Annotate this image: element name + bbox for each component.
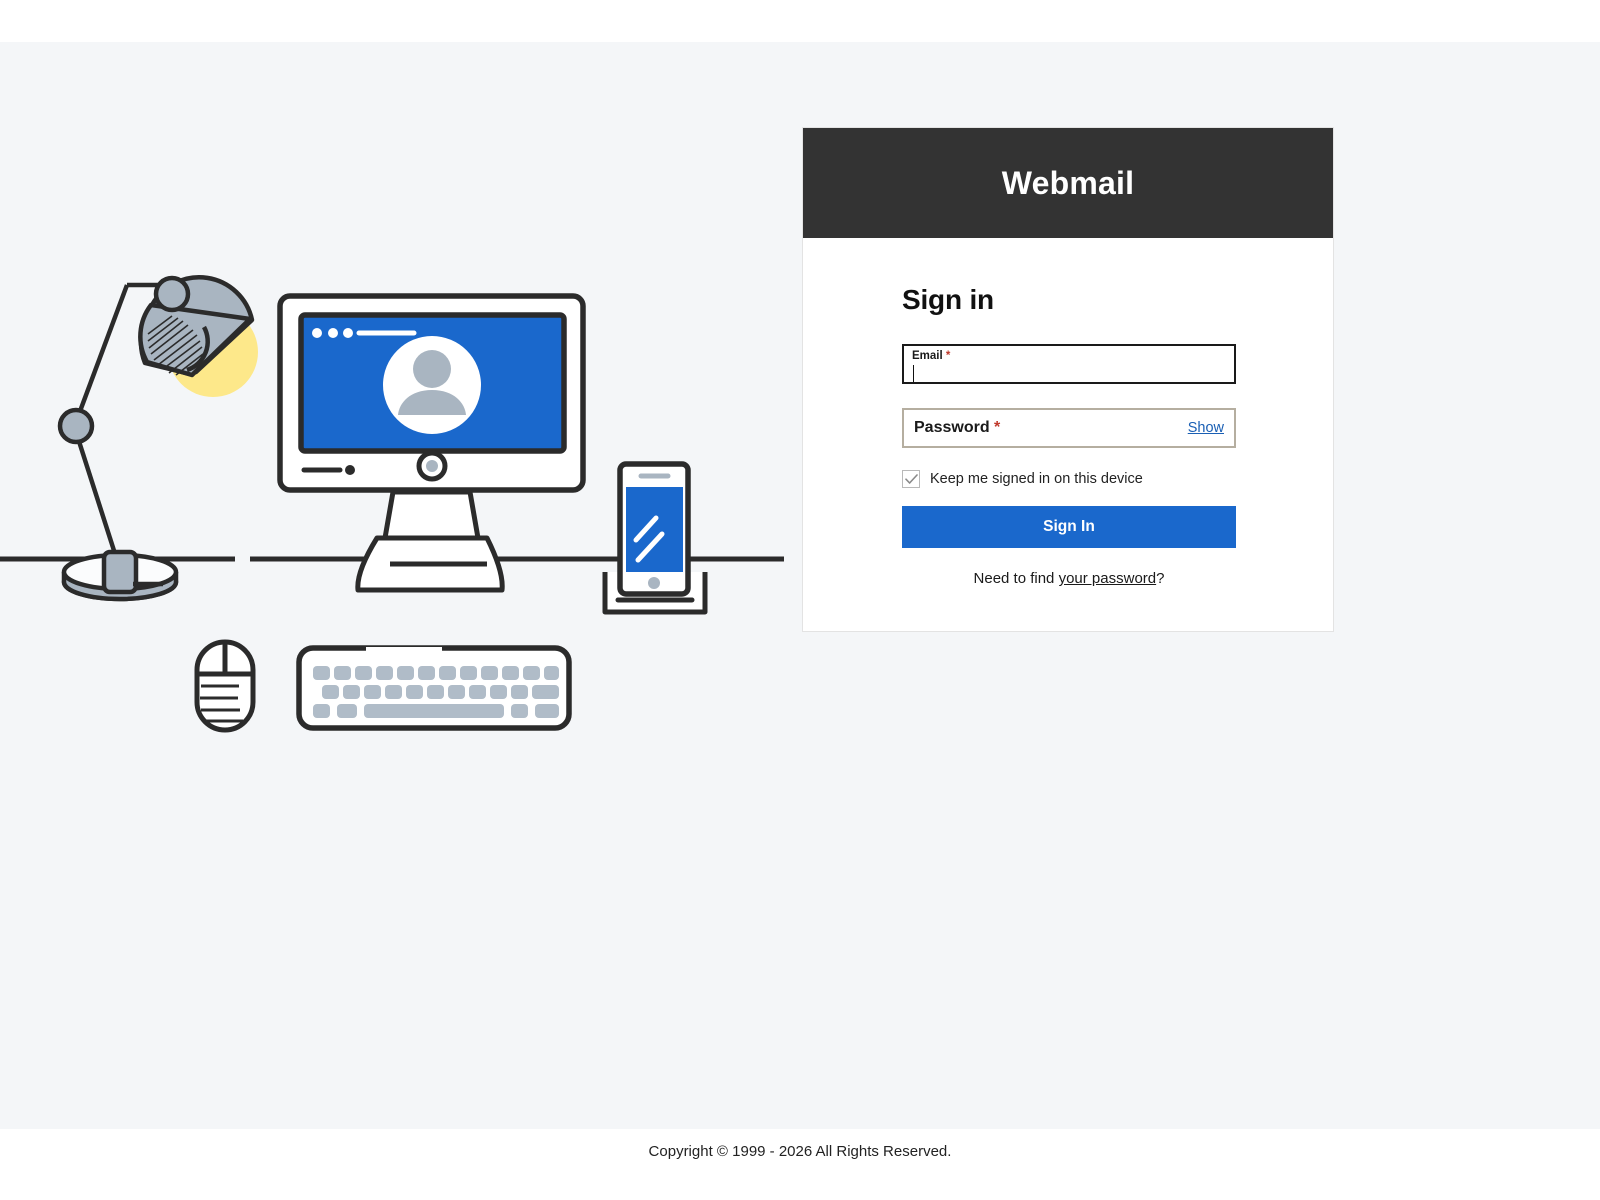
email-field-label: Email *	[912, 350, 1226, 363]
password-field[interactable]: Password * Show	[902, 408, 1236, 448]
monitor-stand-neck	[385, 492, 478, 538]
browser-dot	[312, 328, 322, 338]
browser-dot	[328, 328, 338, 338]
forgot-password-link[interactable]: your password	[1059, 570, 1157, 587]
forgot-password-suffix: ?	[1156, 570, 1164, 587]
phone-home-button	[648, 577, 660, 589]
keep-signed-in-label: Keep me signed in on this device	[930, 471, 1143, 487]
show-password-link[interactable]: Show	[1188, 420, 1224, 436]
browser-dot	[343, 328, 353, 338]
card-header: Webmail	[803, 128, 1333, 238]
top-bar	[0, 0, 1600, 42]
forgot-password-prefix: Need to find	[974, 570, 1059, 587]
email-field[interactable]: Email *	[902, 344, 1236, 384]
app-title: Webmail	[1002, 165, 1134, 202]
page-background: Webmail Sign in Email * Password * Show	[0, 42, 1600, 1129]
required-asterisk-icon: *	[946, 350, 950, 362]
keep-signed-in-row[interactable]: Keep me signed in on this device	[902, 470, 1234, 488]
password-field-label: Password *	[914, 419, 1000, 437]
phone-screen	[626, 487, 683, 572]
page-title: Sign in	[902, 284, 1234, 316]
checkmark-icon	[905, 474, 918, 485]
keep-signed-in-checkbox[interactable]	[902, 470, 920, 488]
desk-lamp	[60, 277, 258, 599]
forgot-password-row: Need to find your password?	[902, 570, 1236, 587]
desk-workspace-illustration	[0, 242, 800, 752]
smartphone-dock	[605, 464, 705, 612]
sign-in-button[interactable]: Sign In	[902, 506, 1236, 548]
text-caret	[913, 365, 914, 382]
computer-mouse	[197, 642, 253, 730]
login-card: Webmail Sign in Email * Password * Show	[802, 127, 1334, 632]
card-body: Sign in Email * Password * Show Keep me …	[803, 238, 1333, 631]
keyboard	[299, 648, 569, 728]
required-asterisk-icon: *	[994, 419, 1000, 436]
page-footer: Copyright © 1999 - 2026 All Rights Reser…	[0, 1129, 1600, 1200]
lamp-joint	[60, 410, 92, 442]
copyright-text: Copyright © 1999 - 2026 All Rights Reser…	[0, 1143, 1600, 1160]
monitor	[280, 296, 583, 590]
